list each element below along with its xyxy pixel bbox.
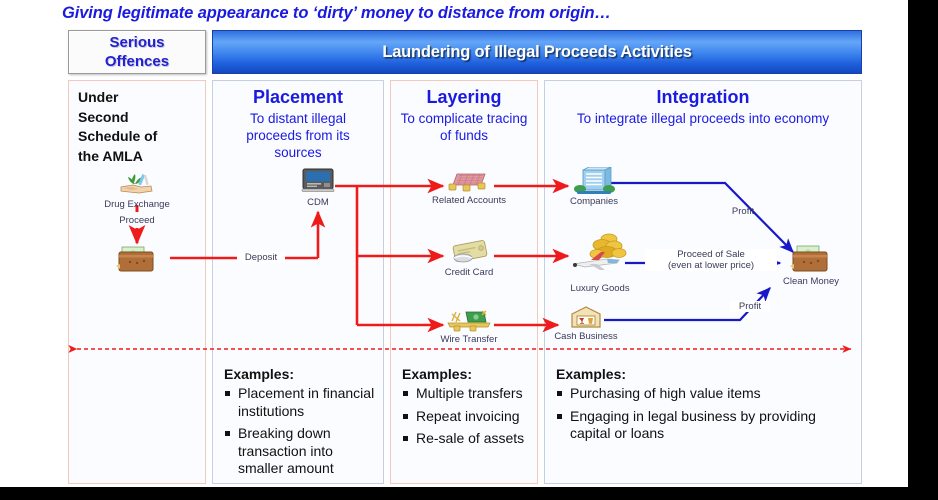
list-item: Breaking down transaction into smaller a… (224, 425, 377, 478)
serious-offences-chip[interactable]: Serious Offences (68, 30, 206, 74)
node-label: CDM (307, 197, 329, 208)
list-item: Repeat invoicing (402, 408, 531, 426)
node-credit-card: Credit Card (437, 240, 501, 278)
node-label: Wire Transfer (440, 334, 497, 345)
panel-serious-offences: Under Second Schedule of the AMLA (68, 80, 206, 484)
node-label: Credit Card (445, 267, 494, 278)
integration-examples-title: Examples: (556, 366, 855, 382)
node-wire-transfer: Wire Transfer (432, 309, 506, 345)
list-item: Multiple transfers (402, 385, 531, 403)
gold-coins (590, 234, 626, 259)
offences-title-line-2: Second (78, 108, 205, 128)
companies-building-icon (571, 167, 617, 195)
edge-label-text-line-2: (even at lower price) (645, 260, 777, 271)
layering-heading: Layering (391, 81, 537, 108)
panel-placement: Placement To distant illegal proceeds fr… (212, 80, 384, 484)
node-label: Drug Exchange (104, 199, 169, 210)
placement-examples: Examples: Placement in financial institu… (213, 360, 383, 483)
layering-subheading: To complicate tracing of funds (391, 108, 537, 144)
laundering-activities-banner: Laundering of Illegal Proceeds Activitie… (212, 30, 862, 74)
luxury-goods-icon (567, 230, 633, 282)
node-luxury-goods: Luxury Goods (562, 230, 638, 294)
slide-canvas: Giving legitimate appearance to ‘dirty’ … (0, 0, 908, 487)
node-proceed-briefcase (112, 243, 164, 276)
credit-card-icon (446, 240, 492, 266)
serious-offences-line-1: Serious (109, 33, 164, 52)
node-label: Luxury Goods (570, 283, 629, 294)
wire-transfer-icon (446, 309, 492, 333)
edge-label-text: Deposit (245, 252, 277, 263)
node-companies: Companies (564, 167, 624, 207)
list-item: Placement in financial institutions (224, 385, 377, 420)
edge-label-text: Proceed (119, 215, 154, 226)
offences-title-line-3: Schedule of (78, 127, 205, 147)
offences-title-line-1: Under (78, 88, 205, 108)
placement-examples-list: Placement in financial institutions Brea… (224, 385, 377, 478)
cash-business-icon (569, 306, 603, 330)
node-related-accounts: Related Accounts (428, 172, 510, 206)
node-drug-exchange: Drug Exchange (100, 172, 174, 210)
offences-title-line-4: the AMLA (78, 147, 205, 167)
serious-offences-line-2: Offences (105, 52, 169, 71)
offences-title: Under Second Schedule of the AMLA (69, 81, 205, 166)
edge-label-text-line-1: Proceed of Sale (645, 249, 777, 260)
panel-layering: Layering To complicate tracing of funds … (390, 80, 538, 484)
node-clean-money: Clean Money (778, 243, 844, 287)
node-label: Clean Money (783, 276, 839, 287)
placement-subheading: To distant illegal proceeds from its sou… (213, 108, 383, 161)
edge-label-proceed: Proceed (112, 215, 162, 226)
edge-label-profit-bottom: Profit (730, 301, 770, 312)
node-label: Cash Business (554, 331, 617, 342)
integration-heading: Integration (545, 81, 861, 108)
edge-label-text: Profit (732, 206, 754, 217)
edge-label-profit-top: Profit (723, 206, 763, 217)
node-label: Related Accounts (432, 195, 506, 206)
list-item: Purchasing of high value items (556, 385, 855, 403)
page-title: Giving legitimate appearance to ‘dirty’ … (62, 1, 862, 25)
integration-examples: Examples: Purchasing of high value items… (545, 360, 861, 448)
layering-examples-title: Examples: (402, 366, 531, 382)
related-accounts-icon (445, 172, 493, 194)
placement-examples-title: Examples: (224, 366, 377, 382)
list-item: Engaging in legal business by providing … (556, 408, 855, 443)
integration-subheading: To integrate illegal proceeds into econo… (545, 108, 861, 127)
list-item: Re-sale of assets (402, 430, 531, 448)
node-cash-business: Cash Business (548, 306, 624, 342)
edge-label-text: Profit (739, 301, 761, 312)
layering-examples-list: Multiple transfers Repeat invoicing Re-s… (402, 385, 531, 448)
banner-title: Laundering of Illegal Proceeds Activitie… (382, 43, 691, 62)
layering-examples: Examples: Multiple transfers Repeat invo… (391, 360, 537, 453)
node-cdm: CDM (295, 168, 341, 208)
cdm-terminal-icon (301, 168, 335, 196)
edge-label-proceed-of-sale: Proceed of Sale (even at lower price) (645, 249, 777, 271)
edge-label-deposit: Deposit (237, 252, 285, 263)
placement-heading: Placement (213, 81, 383, 108)
clean-money-briefcase-icon (787, 243, 835, 275)
integration-examples-list: Purchasing of high value items Engaging … (556, 385, 855, 443)
drug-exchange-icon (117, 172, 157, 198)
money-briefcase-icon (114, 243, 162, 275)
node-label: Companies (570, 196, 618, 207)
